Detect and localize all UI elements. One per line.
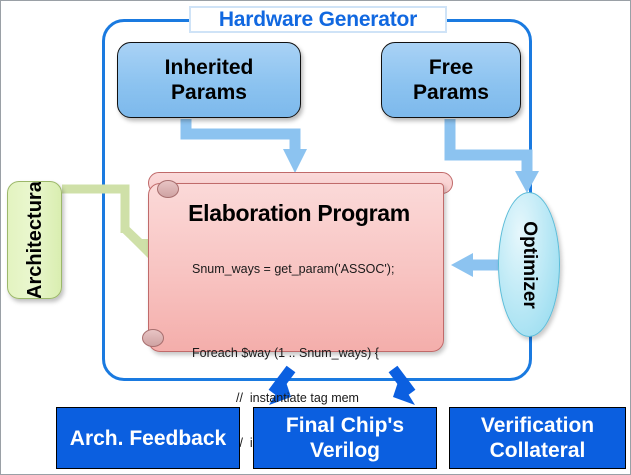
optimizer-label: Optimizer <box>518 192 540 337</box>
free-params-line1: Free <box>413 55 489 80</box>
free-params-box: Free Params <box>381 42 521 118</box>
code-blank-line <box>192 307 442 316</box>
architectural-params-label-group: Architectural Params <box>23 181 47 299</box>
document-curl-knob-top <box>157 180 179 198</box>
output-box-verification-collateral: Verification Collateral <box>449 407 626 469</box>
code-line-3: // instantiate tag mem <box>192 391 442 406</box>
code-line-2: Foreach $way (1 .. Snum_ways) { <box>192 346 442 361</box>
output-verification-line1: Verification <box>481 414 594 437</box>
output-arch-feedback-line1: Arch. <box>70 427 124 450</box>
architectural-params-box: Architectural Params <box>7 181 62 299</box>
output-final-verilog-line1: Final Chip's <box>286 414 404 437</box>
architectural-params-line1: Architectural <box>24 181 46 299</box>
elaboration-program-document: Elaboration Program Snum_ways = get_para… <box>148 172 453 352</box>
output-verification-line2: Collateral <box>490 439 586 462</box>
document-curl-knob-bottom <box>142 329 164 347</box>
free-params-line2: Params <box>413 80 489 105</box>
inherited-params-box: Inherited Params <box>117 42 301 118</box>
output-box-arch-feedback: Arch. Feedback <box>56 407 240 469</box>
optimizer-ellipse: Optimizer <box>498 192 560 337</box>
output-arch-feedback-line2: Feedback <box>129 427 226 450</box>
hardware-generator-title: Hardware Generator <box>189 6 447 33</box>
inherited-params-line1: Inherited <box>165 55 254 80</box>
output-box-final-verilog: Final Chip's Verilog <box>253 407 437 469</box>
output-final-verilog-line2: Verilog <box>310 439 380 462</box>
diagram-canvas: Hardware Generator Inherited Params Free… <box>0 0 631 475</box>
code-line-1: Snum_ways = get_param('ASSOC'); <box>192 262 442 277</box>
inherited-params-line2: Params <box>165 80 254 105</box>
elaboration-program-title: Elaboration Program <box>156 200 442 227</box>
